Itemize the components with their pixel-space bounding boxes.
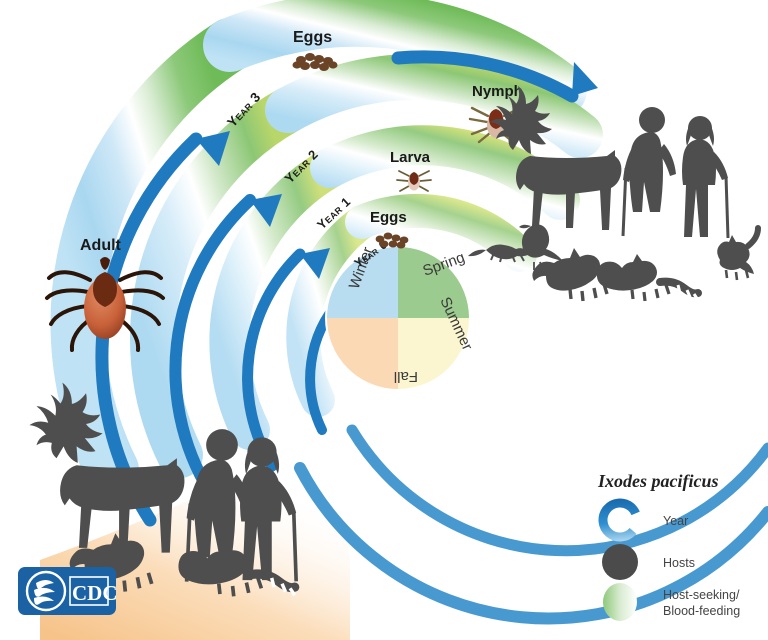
hiker-female-silhouette	[682, 116, 728, 238]
fox-silhouette	[532, 248, 607, 301]
cdc-logo-text: CDC	[72, 581, 118, 605]
season-label-fall: Fall	[394, 368, 418, 385]
dog-silhouette	[717, 228, 758, 280]
tick-larva-icon	[397, 171, 431, 191]
arrow-head-top	[572, 62, 598, 96]
stage-label-nymph: Nymph	[472, 83, 523, 100]
legend-label-host-seeking: Host-seeking/	[663, 588, 740, 602]
legend-title: Ixodes pacificus	[597, 471, 719, 491]
stage-label-eggs-outer: Eggs	[293, 29, 332, 46]
legend-label-hosts: Hosts	[663, 556, 695, 570]
legend-label-year: Year	[663, 514, 688, 528]
stage-label-adult: Adult	[80, 237, 122, 254]
figure-canvas: Spring Summer Fall Winter Year 3 Year 2 …	[0, 0, 768, 640]
stage-label-eggs-inner: Eggs	[370, 209, 407, 226]
stage-label-larva: Larva	[390, 149, 431, 166]
cdc-logo[interactable]: CDC	[18, 567, 118, 615]
legend-swatch-hosts	[602, 544, 638, 580]
legend-label-blood-feeding: Blood-feeding	[663, 604, 740, 618]
life-cycle-diagram: Spring Summer Fall Winter Year 3 Year 2 …	[0, 0, 768, 640]
legend-swatch-host-seeking	[603, 583, 637, 621]
raccoon-silhouette	[597, 254, 698, 301]
tick-eggs-cluster-inner-icon	[376, 233, 409, 249]
hiker-male-silhouette	[623, 107, 676, 236]
